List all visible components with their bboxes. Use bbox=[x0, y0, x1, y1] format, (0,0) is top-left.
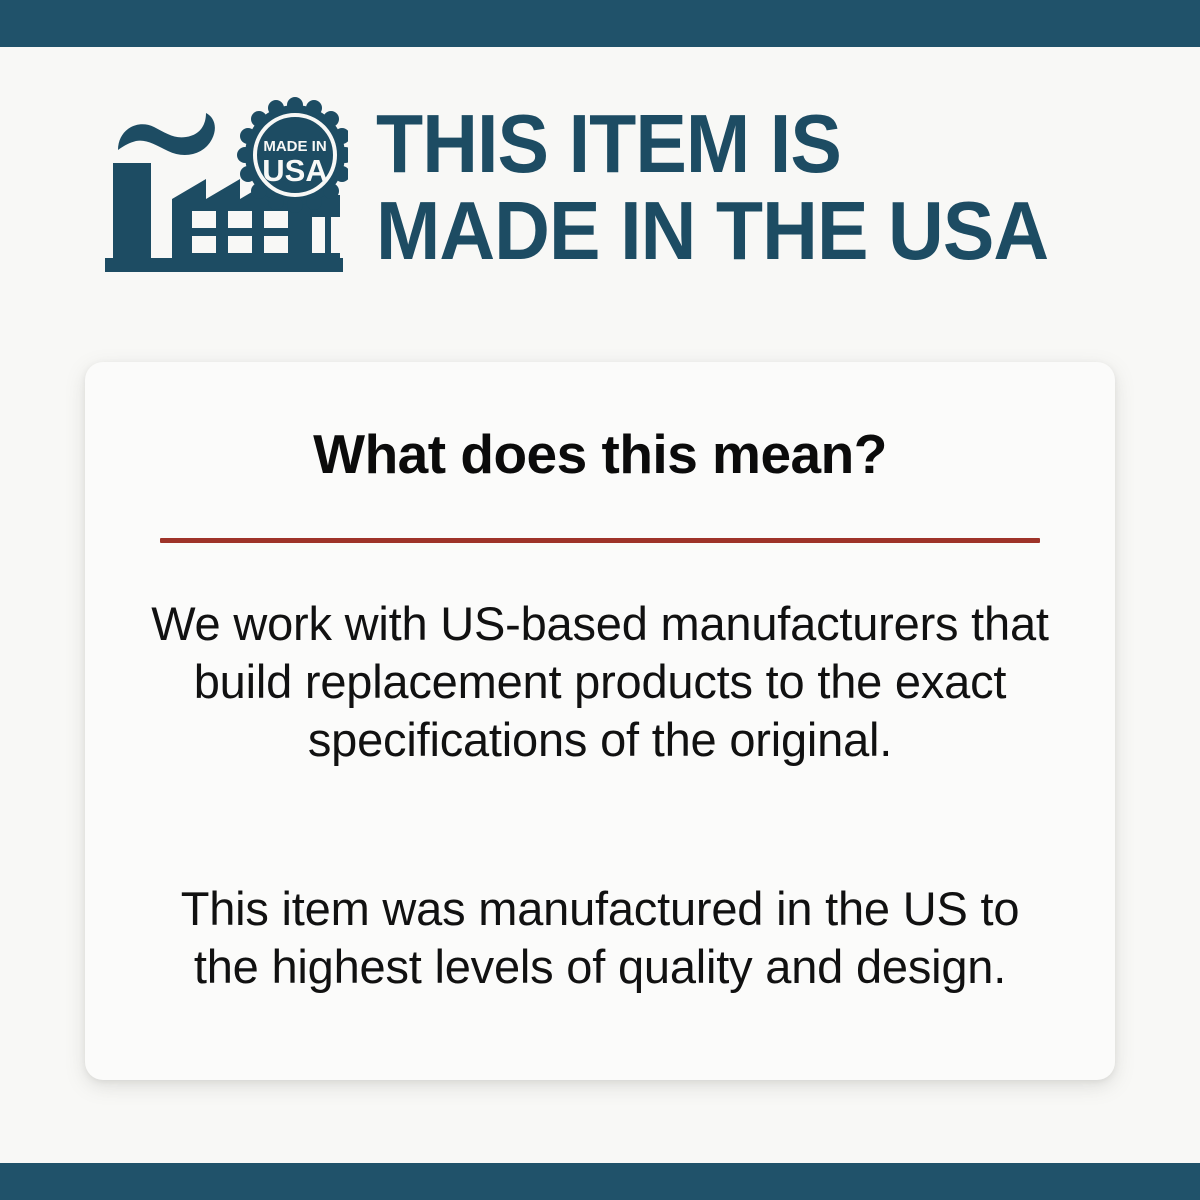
card-paragraph-2: This item was manufactured in the US to … bbox=[145, 880, 1055, 996]
title-line-1: THIS ITEM IS bbox=[376, 101, 1142, 186]
header: MADE IN USA THIS ITEM IS MADE IN THE USA bbox=[0, 95, 1200, 295]
page-title: THIS ITEM IS MADE IN THE USA bbox=[376, 101, 1200, 273]
card-heading: What does this mean? bbox=[85, 424, 1115, 484]
explanation-card: What does this mean? We work with US-bas… bbox=[85, 362, 1115, 1080]
top-accent-band bbox=[0, 0, 1200, 47]
card-paragraph-1: We work with US-based manufacturers that… bbox=[145, 595, 1055, 769]
heading-divider bbox=[160, 538, 1040, 543]
bottom-accent-band bbox=[0, 1163, 1200, 1200]
factory-icon: MADE IN USA bbox=[100, 95, 348, 285]
factory-logo: MADE IN USA bbox=[100, 95, 348, 285]
title-line-2: MADE IN THE USA bbox=[376, 188, 1142, 273]
badge-line-2: USA bbox=[262, 153, 327, 188]
made-in-usa-badge-icon: MADE IN USA bbox=[237, 97, 348, 213]
